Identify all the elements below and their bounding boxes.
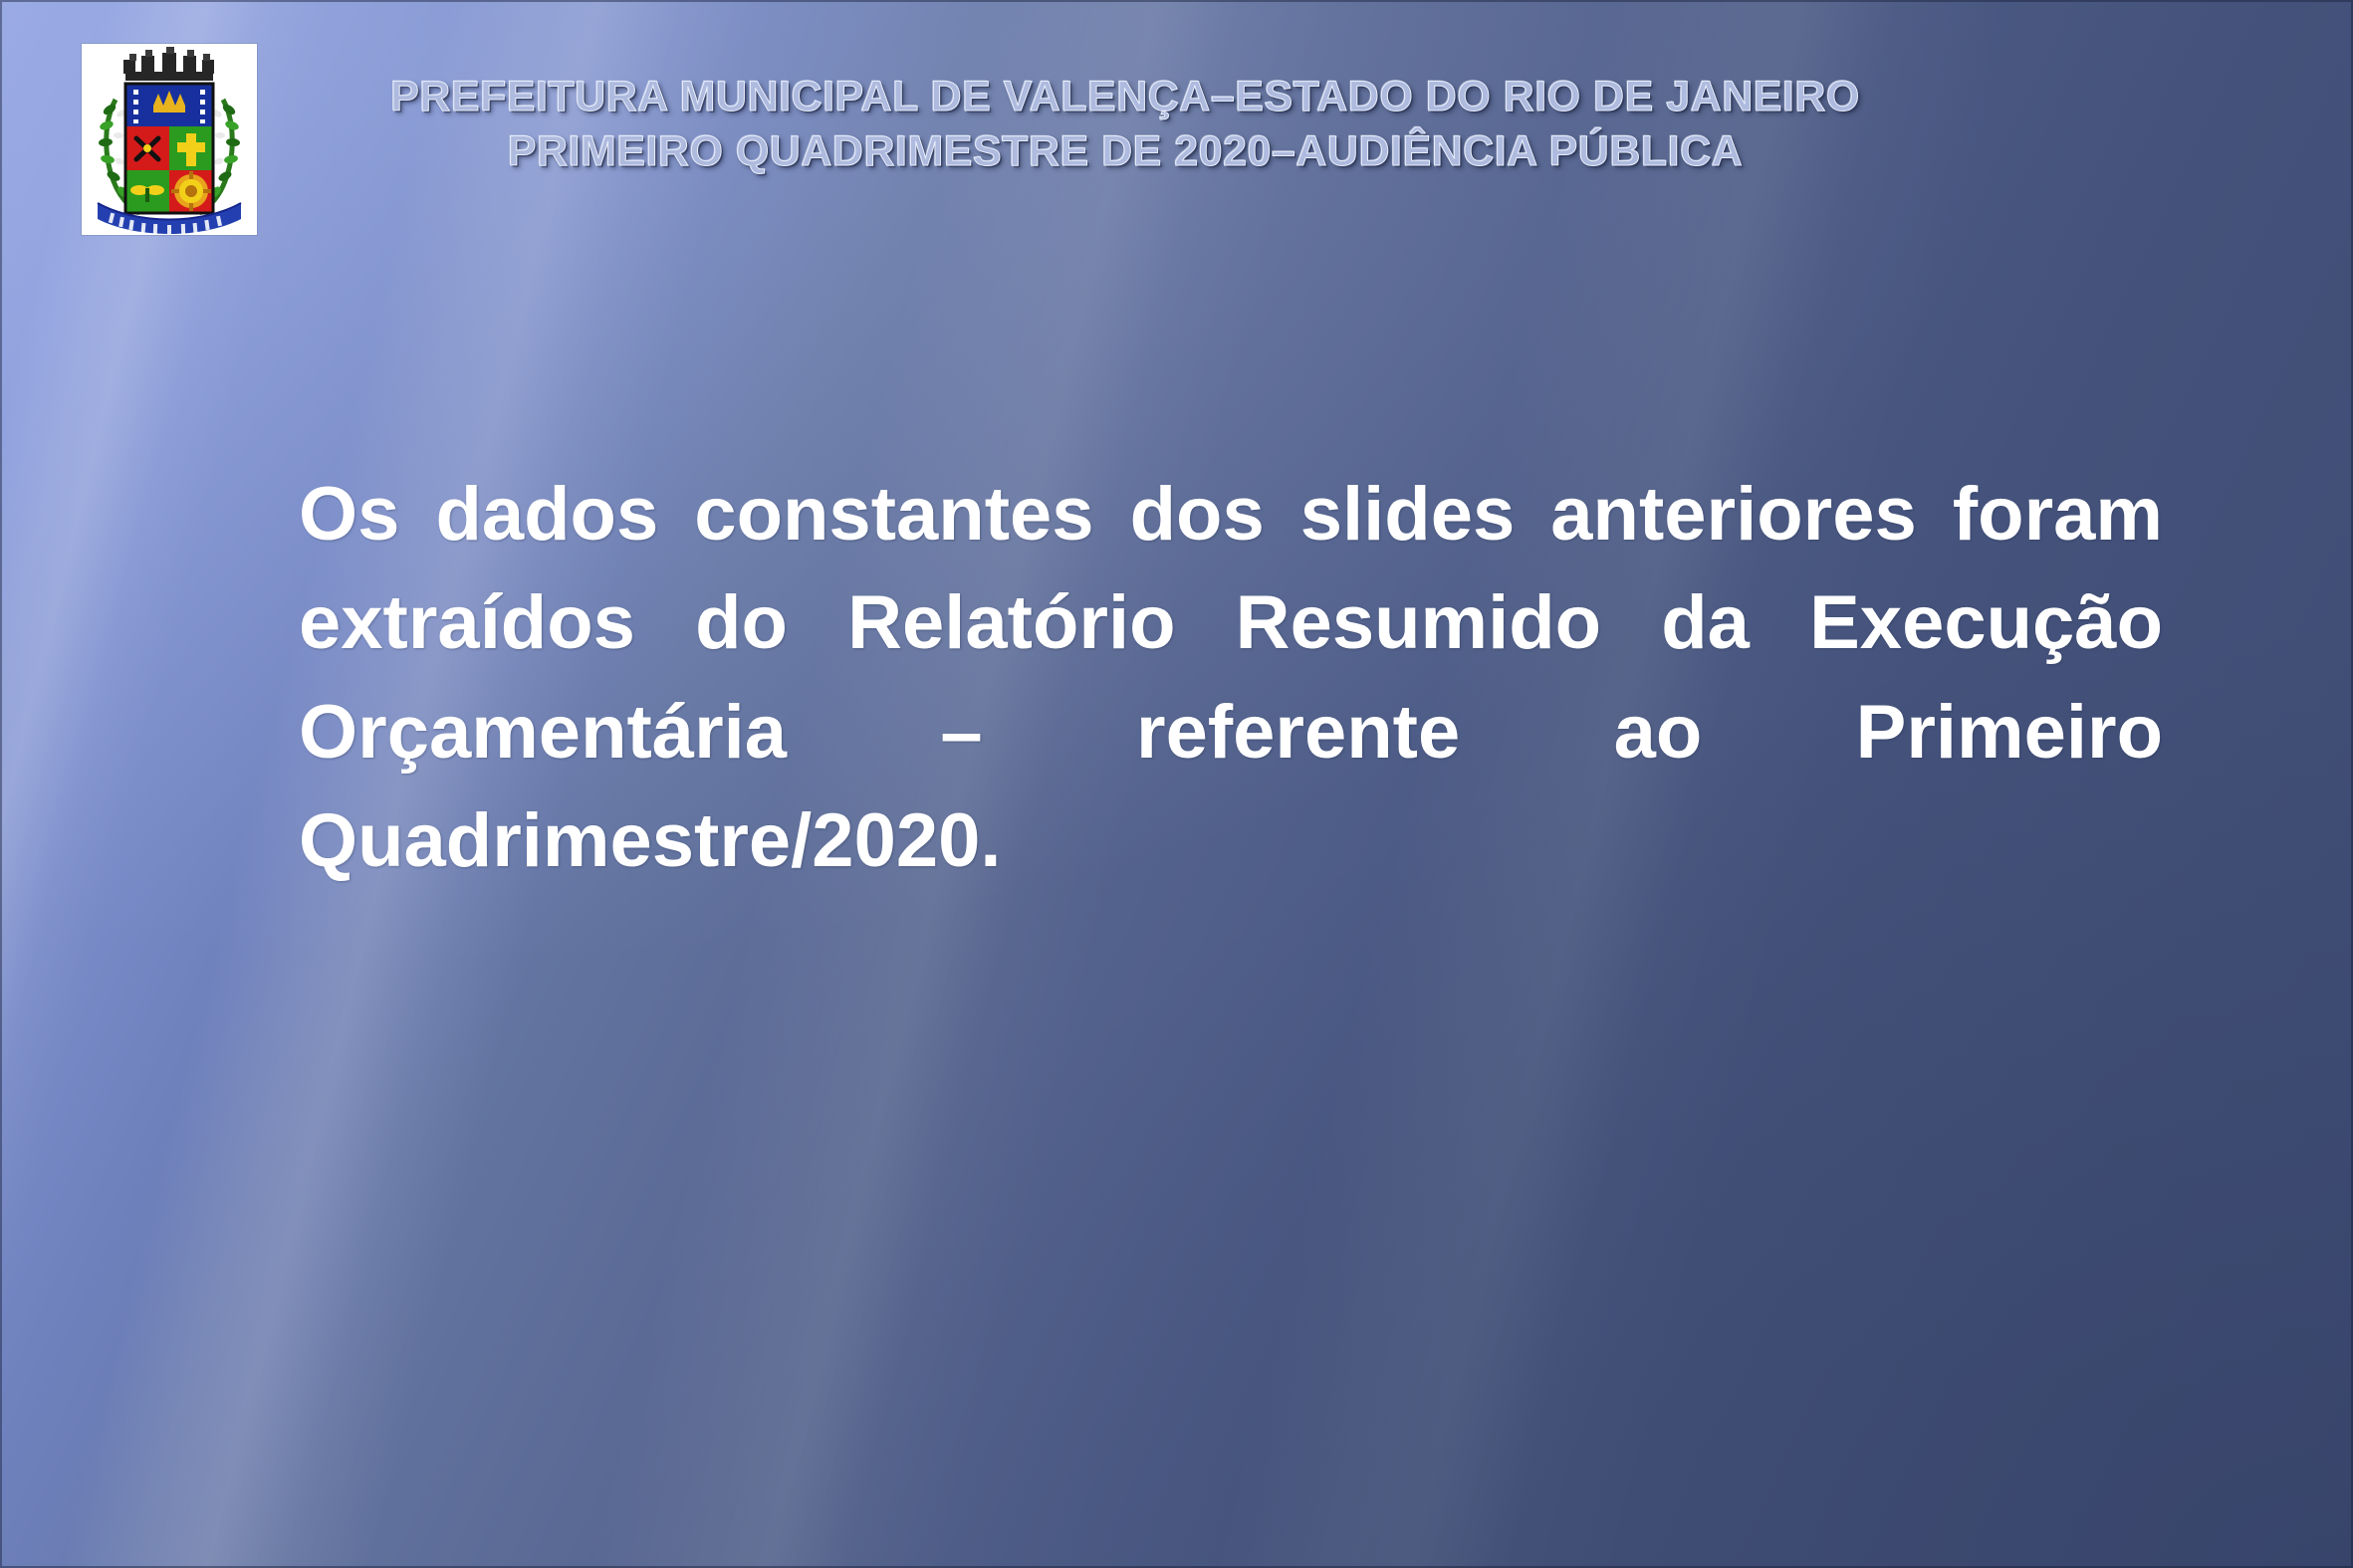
header-line-2: PRIMEIRO QUADRIMESTRE DE 2020–AUDIÊNCIA … <box>329 124 1922 179</box>
presentation-slide: PREFEITURA MUNICIPAL DE VALENÇA–ESTADO D… <box>0 0 2353 1568</box>
slide-body: Os dados constantes dos slides anteriore… <box>299 460 2163 1005</box>
brasao-logo <box>82 44 257 235</box>
body-paragraph: Os dados constantes dos slides anteriore… <box>299 460 2163 1005</box>
shield-icon <box>125 84 213 213</box>
slide-header: PREFEITURA MUNICIPAL DE VALENÇA–ESTADO D… <box>329 70 1922 179</box>
brasao-logo-graphic <box>82 44 257 235</box>
header-line-1: PREFEITURA MUNICIPAL DE VALENÇA–ESTADO D… <box>329 70 1922 124</box>
